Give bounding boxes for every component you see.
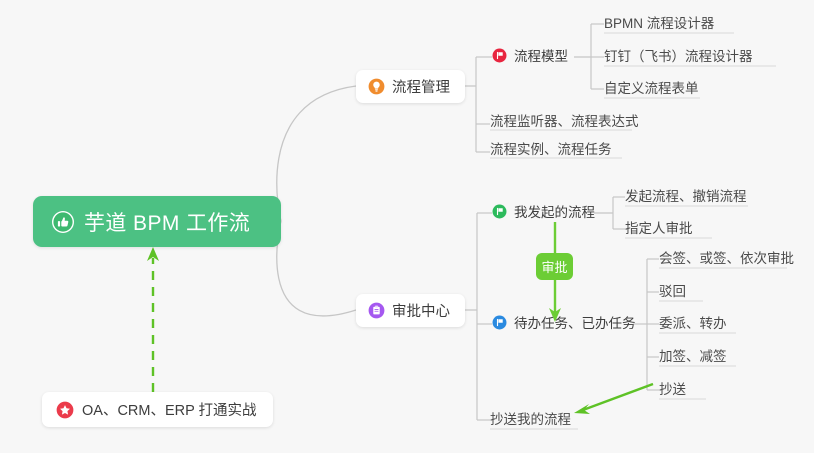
flag-icon	[492, 204, 507, 219]
node-label-cc-to-me-process: 抄送我的流程	[490, 408, 571, 428]
footer-node[interactable]: OA、CRM、ERP 打通实战	[42, 392, 273, 427]
node-todo-done-tasks[interactable]: 待办任务、已办任务	[492, 312, 636, 336]
node-label-dingtalk-feishu-designer: 钉钉（飞书）流程设计器	[604, 45, 753, 65]
node-process-listener-expression[interactable]: 流程监听器、流程表达式	[490, 110, 639, 134]
node-label-my-initiated-process: 我发起的流程	[514, 201, 595, 221]
node-label-cc: 抄送	[659, 378, 686, 398]
annotation-arrow-cc-to-ccme	[574, 384, 653, 414]
node-label-add-remove-sign: 加签、减签	[659, 345, 727, 365]
node-custom-process-form[interactable]: 自定义流程表单	[604, 77, 699, 101]
mindmap-canvas: 芋道 BPM 工作流 流程管理 流程模型 BPMN 流程设计器 钉钉（飞书）流	[0, 0, 814, 453]
node-label-todo-done-tasks: 待办任务、已办任务	[514, 312, 636, 332]
node-label-start-cancel-process: 发起流程、撤销流程	[625, 185, 747, 205]
node-label-process-listener-expression: 流程监听器、流程表达式	[490, 110, 639, 130]
node-label-countersign-orsign-sequential: 会签、或签、依次审批	[659, 247, 794, 267]
footer-node-label: OA、CRM、ERP 打通实战	[82, 399, 257, 420]
node-label-bpmn-designer: BPMN 流程设计器	[604, 12, 714, 32]
edge-root-to-approval-center	[277, 221, 356, 316]
annotation-badge-label: 审批	[541, 257, 567, 276]
node-start-cancel-process[interactable]: 发起流程、撤销流程	[625, 185, 747, 209]
flag-icon	[492, 48, 507, 63]
node-label-process-instance-task: 流程实例、流程任务	[490, 138, 612, 158]
clipboard-icon	[368, 302, 385, 319]
node-label-process-model: 流程模型	[514, 45, 568, 65]
branch-node-process-management[interactable]: 流程管理	[356, 70, 465, 103]
annotation-badge-approval: 审批	[536, 253, 573, 280]
node-cc[interactable]: 抄送	[659, 378, 686, 402]
node-label-reject: 驳回	[659, 280, 686, 300]
flag-icon	[492, 315, 507, 330]
node-dingtalk-feishu-designer[interactable]: 钉钉（飞书）流程设计器	[604, 45, 753, 69]
root-node[interactable]: 芋道 BPM 工作流	[33, 196, 281, 247]
root-node-label: 芋道 BPM 工作流	[84, 207, 250, 237]
node-label-assignee-approval: 指定人审批	[625, 217, 693, 237]
node-cc-to-me-process[interactable]: 抄送我的流程	[490, 408, 571, 432]
node-countersign-orsign-sequential[interactable]: 会签、或签、依次审批	[659, 247, 794, 271]
lightbulb-icon	[368, 78, 385, 95]
branch-label-process-management: 流程管理	[392, 76, 450, 97]
node-delegate-transfer[interactable]: 委派、转办	[659, 312, 727, 336]
node-bpmn-designer[interactable]: BPMN 流程设计器	[604, 12, 714, 36]
node-label-delegate-transfer: 委派、转办	[659, 312, 727, 332]
annotation-arrow-footer-to-root	[147, 247, 159, 392]
node-add-remove-sign[interactable]: 加签、减签	[659, 345, 727, 369]
node-my-initiated-process[interactable]: 我发起的流程	[492, 201, 595, 225]
node-label-custom-process-form: 自定义流程表单	[604, 77, 699, 97]
node-process-instance-task[interactable]: 流程实例、流程任务	[490, 138, 612, 162]
branch-node-approval-center[interactable]: 审批中心	[356, 294, 465, 327]
star-icon	[56, 401, 74, 419]
thumbs-up-icon	[51, 210, 75, 234]
branch-label-approval-center: 审批中心	[392, 300, 450, 321]
node-assignee-approval[interactable]: 指定人审批	[625, 217, 693, 241]
edge-root-to-process-management	[277, 86, 356, 221]
node-reject[interactable]: 驳回	[659, 280, 686, 304]
node-process-model[interactable]: 流程模型	[492, 45, 568, 69]
